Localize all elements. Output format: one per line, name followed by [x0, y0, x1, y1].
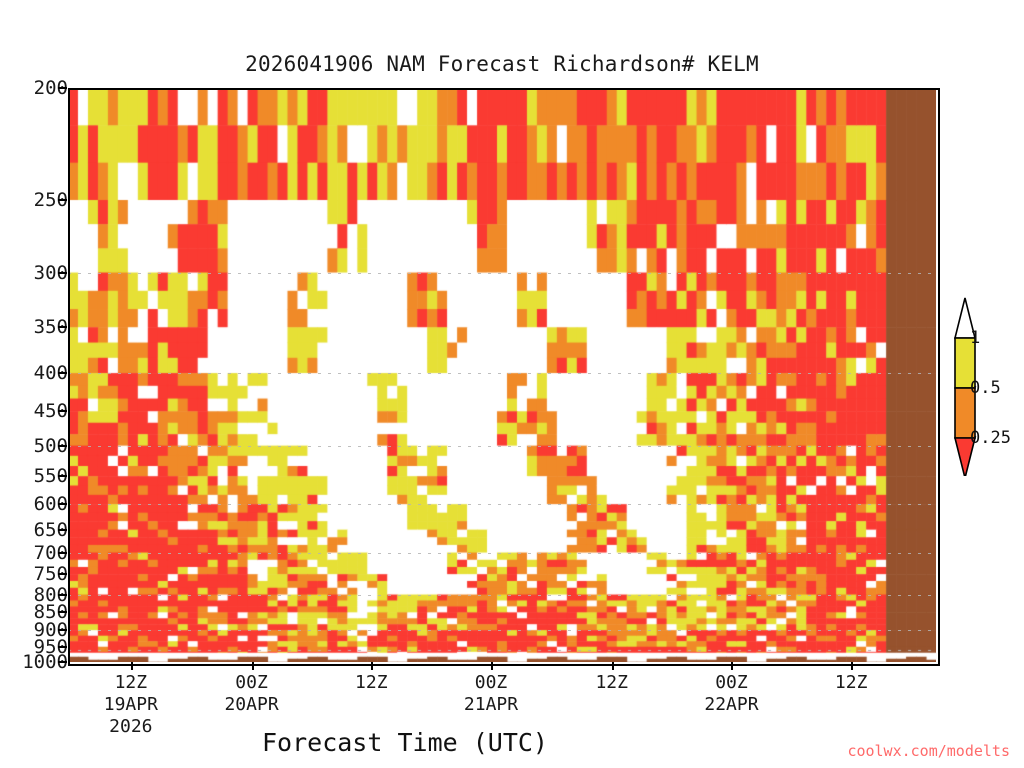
gridline-900 [68, 630, 936, 631]
y-tick-mark-300 [58, 272, 67, 274]
x-tick-mark-3 [491, 662, 493, 670]
colorbar-legend[interactable]: 1 0.5 0.25 [941, 296, 1021, 476]
x-axis-title: Forecast Time (UTC) [0, 728, 810, 757]
chart-title: 2026041906 NAM Forecast Richardson# KELM [0, 52, 1004, 76]
gridline-400 [68, 373, 936, 374]
gridline-300 [68, 273, 936, 274]
y-tick-mark-600 [58, 503, 67, 505]
y-tick-mark-550 [58, 475, 67, 477]
y-tick-mark-500 [58, 445, 67, 447]
gridline-600 [68, 504, 936, 505]
y-tick-mark-850 [58, 611, 67, 613]
x-tick-mark-2 [371, 662, 373, 670]
y-tick-mark-900 [58, 629, 67, 631]
x-tick-mark-6 [851, 662, 853, 670]
y-tick-mark-400 [58, 372, 67, 374]
y-tick-mark-950 [58, 646, 67, 648]
watermark: coolwx.com/modelts [847, 742, 1010, 760]
y-axis: 2002503003504004505005506006507007508008… [0, 88, 68, 662]
gridline-800 [68, 595, 936, 596]
colorbar-label-0p25: 0.25 [970, 428, 1011, 448]
gridline-500 [68, 446, 936, 447]
colorbar-label-1: 1 [970, 328, 980, 348]
heatmap-plot-area[interactable] [68, 88, 936, 662]
x-tick-mark-1 [252, 662, 254, 670]
y-tick-mark-700 [58, 552, 67, 554]
y-tick-mark-750 [58, 573, 67, 575]
y-tick-mark-200 [58, 87, 67, 89]
y-tick-mark-450 [58, 410, 67, 412]
y-tick-mark-800 [58, 594, 67, 596]
x-tick-line-3-1: 21APR [411, 694, 571, 716]
y-tick-mark-650 [58, 529, 67, 531]
colorbar-label-0p5: 0.5 [970, 378, 1001, 398]
y-tick-mark-350 [58, 326, 67, 328]
y-tick-mark-1000 [58, 661, 67, 663]
gridline-layer [68, 88, 936, 662]
x-tick-mark-4 [612, 662, 614, 670]
x-tick-line-5-1: 22APR [651, 694, 811, 716]
gridline-700 [68, 553, 936, 554]
x-tick-mark-5 [731, 662, 733, 670]
chart-root: 2026041906 NAM Forecast Richardson# KELM… [0, 0, 1024, 768]
x-tick-line-1-1: 20APR [172, 694, 332, 716]
x-tick-label-group-6: 12Z [771, 672, 931, 694]
x-tick-line-6-0: 12Z [771, 672, 931, 694]
y-tick-mark-250 [58, 199, 67, 201]
x-tick-mark-0 [131, 662, 133, 670]
